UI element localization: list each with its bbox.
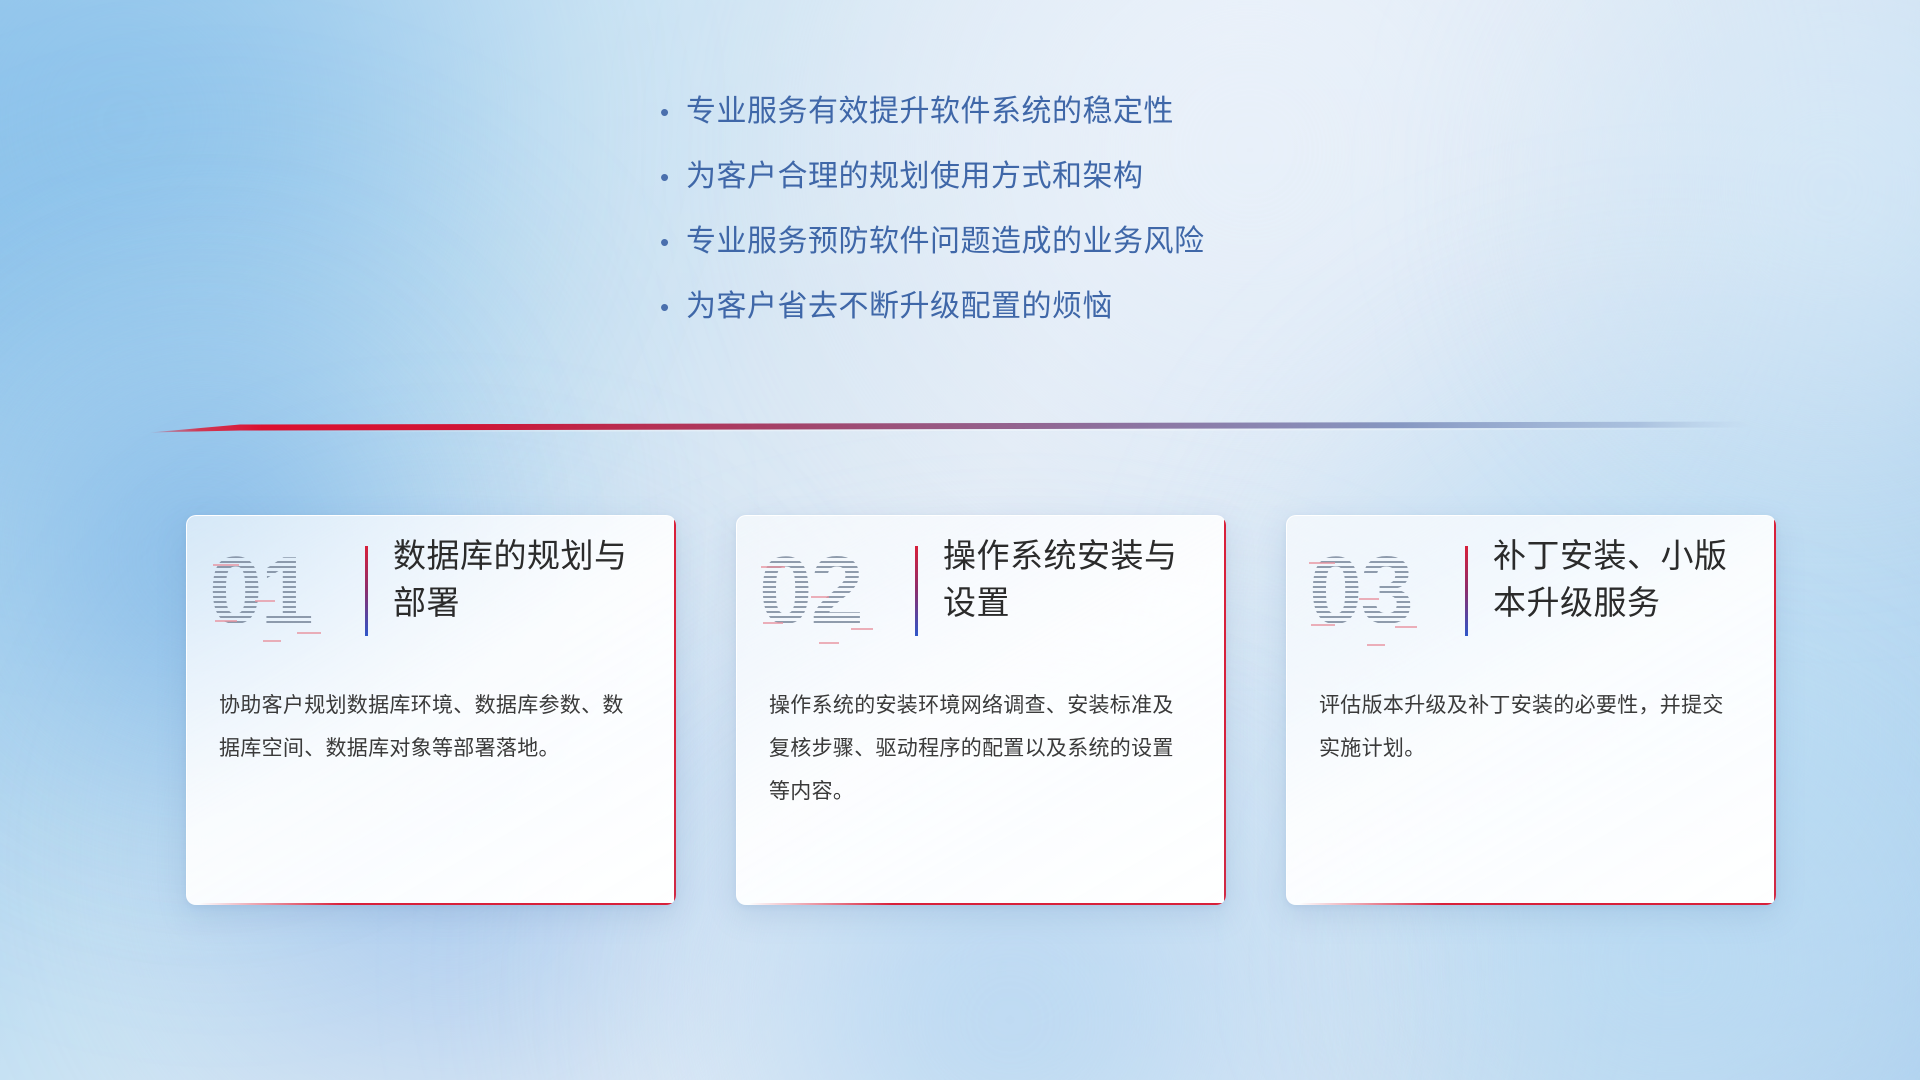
bullet-text: 专业服务预防软件问题造成的业务风险 [686,222,1205,262]
card-title: 数据库的规划与部署 [393,532,655,626]
card-title: 补丁安装、小版本升级服务 [1493,532,1755,626]
bullet-dot-icon: • [660,157,686,197]
bullet-text: 为客户合理的规划使用方式和架构 [686,157,1144,197]
list-item: • 专业服务有效提升软件系统的稳定性 [660,92,1205,157]
service-card[interactable]: 02 操作系统安装与设置 操作系统的安装环境网络调查、安装标准及复核步骤、驱动程… [736,515,1226,905]
bullet-dot-icon: • [660,92,686,132]
list-item: • 专业服务预防软件问题造成的业务风险 [660,222,1205,287]
bullet-text: 专业服务有效提升软件系统的稳定性 [686,92,1174,132]
card-description: 评估版本升级及补丁安装的必要性，并提交实施计划。 [1319,684,1742,770]
card-description: 协助客户规划数据库环境、数据库参数、数据库空间、数据库对象等部署落地。 [219,684,642,770]
card-header: 02 操作系统安装与设置 [737,516,1226,666]
list-item: • 为客户合理的规划使用方式和架构 [660,157,1205,222]
card-accent-rule [365,546,368,636]
card-accent-rule [915,546,918,636]
card-header: 03 补丁安装、小版本升级服务 [1287,516,1776,666]
divider-svg [150,405,1750,455]
bullet-dot-icon: • [660,222,686,262]
card-number-watermark: 03 [1309,536,1459,646]
card-header: 01 数据库的规划与部署 [187,516,676,666]
service-card-row: 01 数据库的规划与部署 协助客户规划数据库环境、数据库参数、数据库空间、数据库… [0,515,1920,935]
card-title: 操作系统安装与设置 [943,532,1205,626]
card-number-watermark: 01 [209,536,359,646]
service-card[interactable]: 01 数据库的规划与部署 协助客户规划数据库环境、数据库参数、数据库空间、数据库… [186,515,676,905]
card-accent-rule [1465,546,1468,636]
service-card[interactable]: 03 补丁安装、小版本升级服务 评估版本升级及补丁安装的必要性，并提交实施计划。 [1286,515,1776,905]
benefit-bullet-list: • 专业服务有效提升软件系统的稳定性 • 为客户合理的规划使用方式和架构 • 专… [660,92,1205,352]
card-description: 操作系统的安装环境网络调查、安装标准及复核步骤、驱动程序的配置以及系统的设置等内… [769,684,1192,813]
bullet-text: 为客户省去不断升级配置的烦恼 [686,287,1113,327]
bullet-dot-icon: • [660,287,686,327]
card-number-watermark: 02 [759,536,909,646]
list-item: • 为客户省去不断升级配置的烦恼 [660,287,1205,352]
section-divider [150,405,1750,455]
